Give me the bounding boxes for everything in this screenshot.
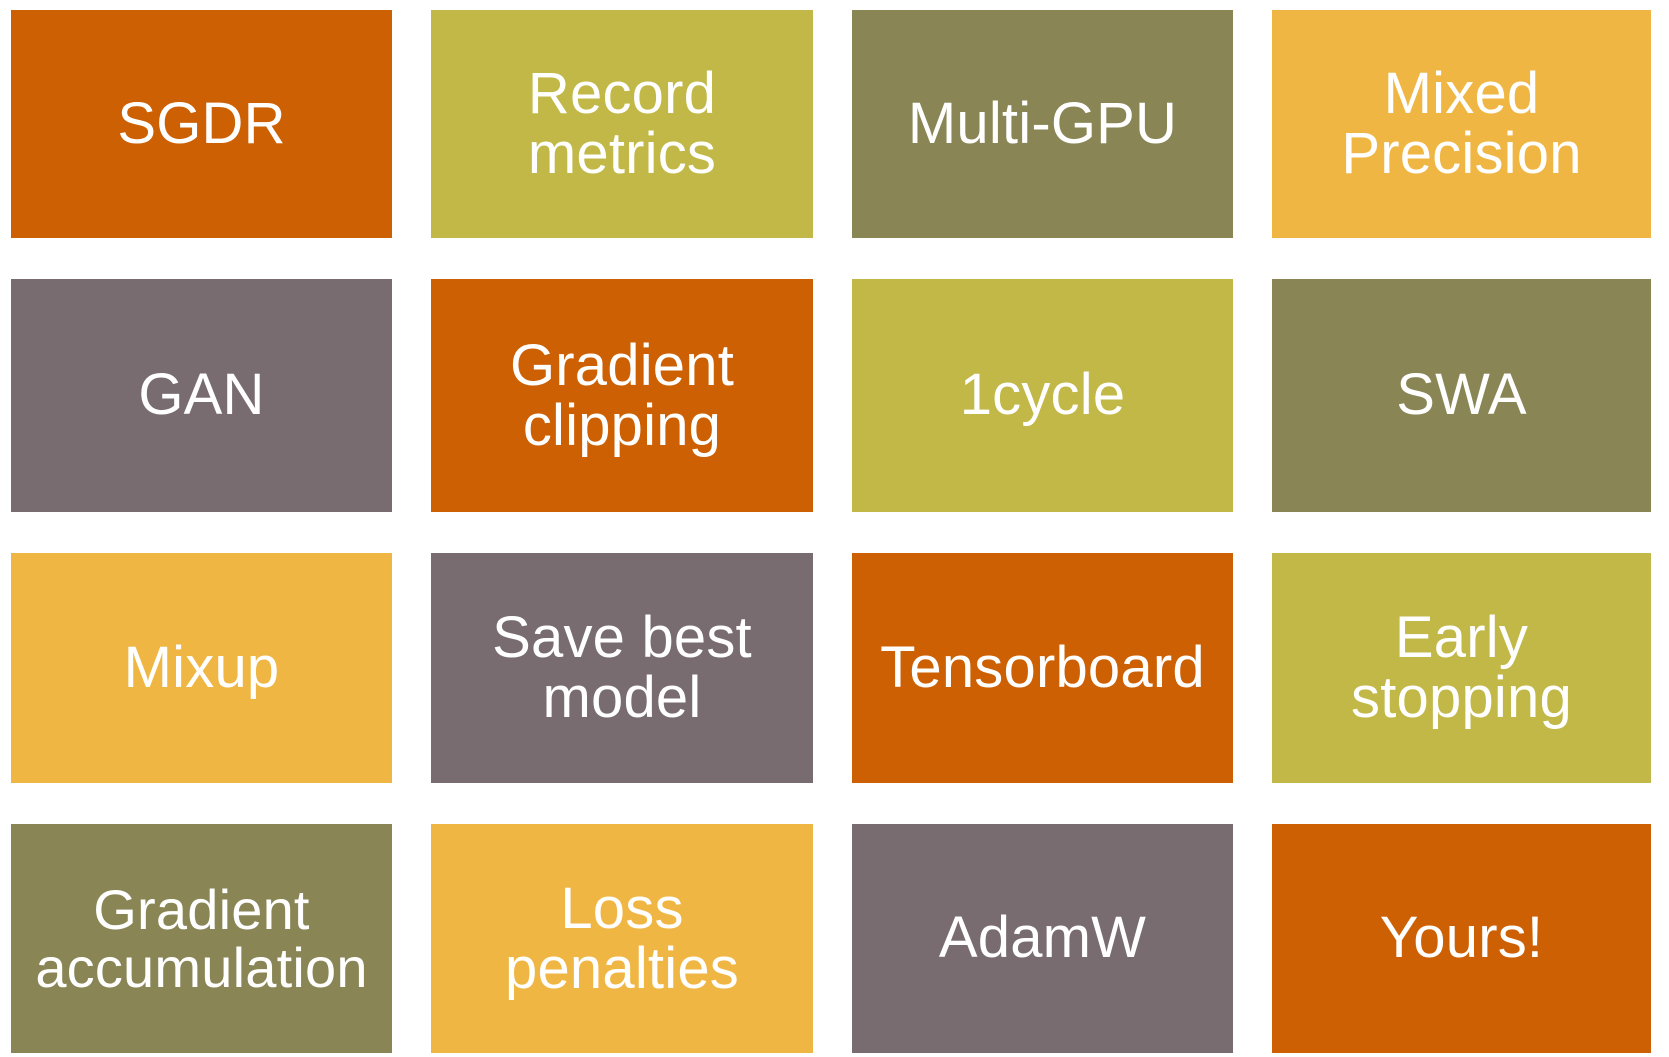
tile-swa-label: SWA bbox=[1386, 365, 1537, 426]
tile-swa[interactable]: SWA bbox=[1272, 279, 1651, 512]
tile-gradient-accumulation-label: Gradient accumulation bbox=[25, 881, 377, 996]
tile-1cycle[interactable]: 1cycle bbox=[852, 279, 1233, 512]
tile-gan[interactable]: GAN bbox=[11, 279, 392, 512]
tile-save-best-model-label: Save best model bbox=[482, 608, 762, 727]
tile-mixed-precision-label: Mixed Precision bbox=[1331, 64, 1591, 183]
tile-grid: SGDRRecord metricsMulti-GPUMixed Precisi… bbox=[0, 0, 1669, 1057]
tile-adamw[interactable]: AdamW bbox=[852, 824, 1233, 1053]
tile-loss-penalties-label: Loss penalties bbox=[495, 879, 749, 998]
tile-sgdr-label: SGDR bbox=[107, 94, 295, 155]
tile-gradient-accumulation[interactable]: Gradient accumulation bbox=[11, 824, 392, 1053]
tile-yours-label: Yours! bbox=[1370, 908, 1554, 969]
tile-early-stopping-label: Early stopping bbox=[1341, 608, 1582, 727]
tile-gradient-clipping-label: Gradient clipping bbox=[500, 336, 744, 455]
tile-save-best-model[interactable]: Save best model bbox=[431, 553, 813, 783]
tile-gradient-clipping[interactable]: Gradient clipping bbox=[431, 279, 813, 512]
tile-mixup[interactable]: Mixup bbox=[11, 553, 392, 783]
tile-gan-label: GAN bbox=[128, 365, 274, 426]
tile-tensorboard[interactable]: Tensorboard bbox=[852, 553, 1233, 783]
tile-mixed-precision[interactable]: Mixed Precision bbox=[1272, 10, 1651, 238]
tile-sgdr[interactable]: SGDR bbox=[11, 10, 392, 238]
tile-yours[interactable]: Yours! bbox=[1272, 824, 1651, 1053]
tile-loss-penalties[interactable]: Loss penalties bbox=[431, 824, 813, 1053]
tile-adamw-label: AdamW bbox=[929, 908, 1156, 969]
tile-mixup-label: Mixup bbox=[114, 638, 290, 699]
tile-record-metrics-label: Record metrics bbox=[518, 64, 726, 183]
tile-1cycle-label: 1cycle bbox=[950, 365, 1136, 426]
tile-record-metrics[interactable]: Record metrics bbox=[431, 10, 813, 238]
tile-multi-gpu-label: Multi-GPU bbox=[898, 94, 1187, 155]
tile-multi-gpu[interactable]: Multi-GPU bbox=[852, 10, 1233, 238]
tile-tensorboard-label: Tensorboard bbox=[870, 638, 1215, 699]
tile-early-stopping[interactable]: Early stopping bbox=[1272, 553, 1651, 783]
